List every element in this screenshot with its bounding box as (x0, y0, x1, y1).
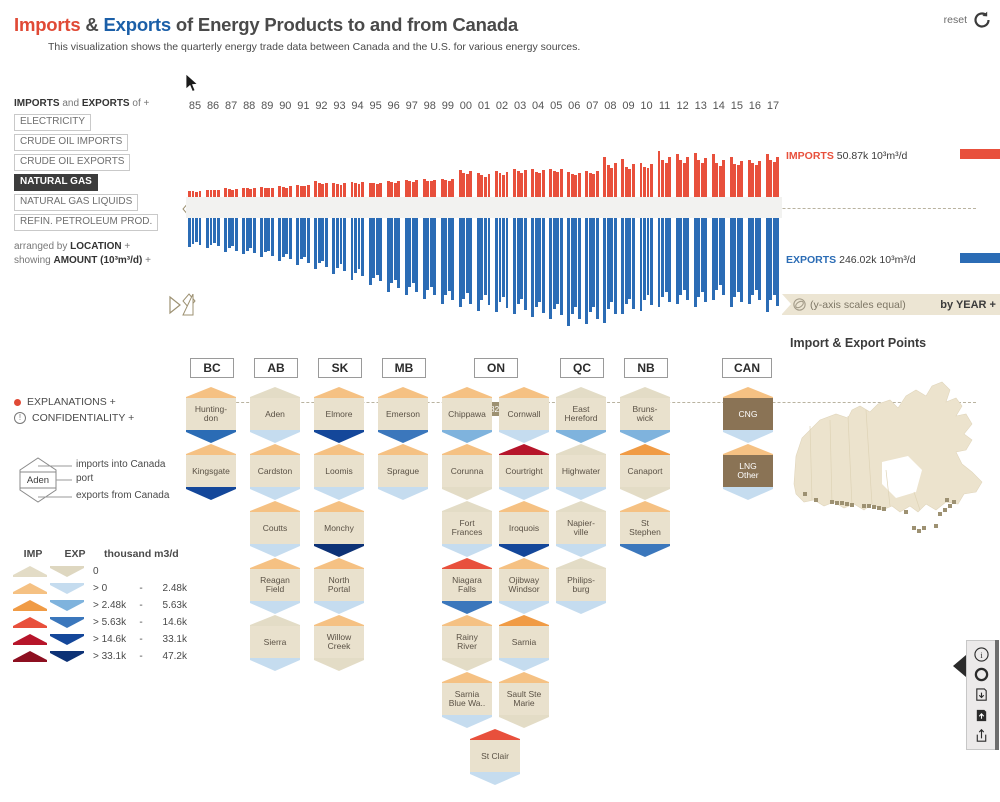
province-header-sk[interactable]: SK (318, 358, 362, 378)
chart-year-label[interactable]: 00 (457, 96, 475, 117)
export-bar[interactable] (199, 218, 202, 245)
export-bar[interactable] (228, 218, 231, 248)
export-bar[interactable] (553, 218, 556, 309)
import-bar[interactable] (748, 160, 751, 197)
export-bar[interactable] (376, 218, 379, 275)
export-bar[interactable] (679, 218, 682, 295)
import-bar[interactable] (321, 184, 324, 197)
confidentiality-toggle[interactable]: ! CONFIDENTIALITY + (14, 412, 199, 424)
import-bar[interactable] (264, 188, 267, 197)
export-bar[interactable] (433, 218, 436, 295)
import-bar[interactable] (621, 159, 624, 197)
import-bar[interactable] (412, 182, 415, 197)
export-bar[interactable] (751, 218, 754, 295)
port-tile[interactable]: NiagaraFalls (442, 569, 492, 601)
chart-year-label[interactable]: 97 (403, 96, 421, 117)
import-bar[interactable] (676, 154, 679, 197)
export-bar[interactable] (412, 218, 415, 283)
export-bar[interactable] (766, 218, 769, 312)
export-bar[interactable] (737, 218, 740, 292)
export-bar[interactable] (444, 218, 447, 295)
import-bar[interactable] (603, 157, 606, 197)
import-bar[interactable] (444, 180, 447, 197)
export-bar[interactable] (556, 218, 559, 304)
export-bar[interactable] (430, 218, 433, 287)
export-bar[interactable] (358, 218, 361, 269)
export-bar[interactable] (733, 218, 736, 297)
import-bar[interactable] (462, 173, 465, 197)
export-bar[interactable] (607, 218, 610, 309)
chart-year-label[interactable]: 06 (565, 96, 583, 117)
export-bar[interactable] (477, 218, 480, 311)
import-bar[interactable] (524, 170, 527, 197)
import-bar[interactable] (704, 158, 707, 197)
export-bar[interactable] (661, 218, 664, 297)
import-bar[interactable] (426, 181, 429, 197)
chart-year-label[interactable]: 89 (258, 96, 276, 117)
legend-row[interactable]: 0 (12, 563, 187, 580)
import-bar[interactable] (285, 188, 288, 197)
toolbar-collapse-arrow[interactable] (953, 655, 966, 677)
export-bar[interactable] (640, 218, 643, 311)
import-bar[interactable] (484, 177, 487, 197)
import-bar[interactable] (549, 169, 552, 197)
export-bar[interactable] (289, 218, 292, 259)
chart-year-label[interactable]: 03 (511, 96, 529, 117)
port-tile[interactable]: StStephen (620, 512, 670, 544)
import-bar[interactable] (325, 183, 328, 197)
canada-map[interactable] (786, 352, 996, 567)
port-tile[interactable]: Corunna (442, 455, 492, 487)
export-bar[interactable] (776, 218, 779, 306)
import-bar[interactable] (469, 171, 472, 197)
chart-year-label[interactable]: 04 (529, 96, 547, 117)
chart-year-label[interactable]: 09 (619, 96, 637, 117)
chart-year-label[interactable]: 12 (674, 96, 692, 117)
import-bar[interactable] (556, 172, 559, 197)
port-tile[interactable]: Sarnia (499, 626, 549, 658)
export-bar[interactable] (538, 218, 541, 302)
export-bar[interactable] (441, 218, 444, 304)
export-bar[interactable] (740, 218, 743, 302)
export-bar[interactable] (499, 218, 502, 302)
export-bar[interactable] (394, 218, 397, 280)
import-bar[interactable] (354, 183, 357, 197)
export-bar[interactable] (278, 218, 281, 261)
import-bar[interactable] (459, 170, 462, 197)
export-bar[interactable] (235, 218, 238, 251)
province-header-nb[interactable]: NB (624, 358, 668, 378)
port-tile[interactable]: Kingsgate (186, 455, 236, 487)
import-bar[interactable] (343, 183, 346, 197)
import-bar[interactable] (361, 182, 364, 197)
export-bar[interactable] (665, 218, 668, 292)
import-bar[interactable] (614, 163, 617, 198)
import-bar[interactable] (394, 183, 397, 197)
import-bar[interactable] (694, 153, 697, 197)
port-tile[interactable]: Napier-ville (556, 512, 606, 544)
port-tile[interactable]: WillowCreek (314, 626, 364, 658)
export-bar[interactable] (488, 218, 491, 305)
export-bar[interactable] (480, 218, 483, 300)
export-bar[interactable] (300, 218, 303, 259)
import-bar[interactable] (513, 169, 516, 197)
export-bar[interactable] (451, 218, 454, 300)
chart-year-label[interactable]: 92 (312, 96, 330, 117)
import-bar[interactable] (477, 173, 480, 197)
import-bar[interactable] (296, 185, 299, 197)
import-bar[interactable] (379, 183, 382, 197)
export-bar[interactable] (758, 218, 761, 300)
import-bar[interactable] (719, 166, 722, 197)
export-bar[interactable] (340, 218, 343, 264)
export-bar[interactable] (325, 218, 328, 267)
import-bar[interactable] (267, 188, 270, 197)
export-bar[interactable] (351, 218, 354, 280)
import-bar[interactable] (560, 169, 563, 197)
export-bar[interactable] (361, 218, 364, 276)
import-bar[interactable] (499, 173, 502, 197)
chart-year-label[interactable]: 15 (728, 96, 746, 117)
export-bar[interactable] (271, 218, 274, 256)
export-bar[interactable] (249, 218, 252, 248)
import-bar[interactable] (441, 179, 444, 197)
export-bar[interactable] (571, 218, 574, 314)
share-icon[interactable] (974, 728, 989, 743)
export-bar[interactable] (307, 218, 310, 263)
chart-year-label[interactable]: 94 (349, 96, 367, 117)
import-bar[interactable] (210, 190, 213, 197)
export-bar[interactable] (517, 218, 520, 304)
export-bar[interactable] (712, 218, 715, 300)
export-bar[interactable] (755, 218, 758, 290)
export-bar[interactable] (676, 218, 679, 304)
import-bar[interactable] (542, 170, 545, 197)
chart-year-label[interactable]: 96 (385, 96, 403, 117)
import-bar[interactable] (358, 184, 361, 197)
chart-year-label[interactable]: 01 (475, 96, 493, 117)
export-bar[interactable] (213, 218, 216, 243)
port-tile[interactable]: Iroquois (499, 512, 549, 544)
export-bar[interactable] (719, 218, 722, 285)
export-bar[interactable] (343, 218, 346, 271)
legend-row[interactable]: > 5.63k-14.6k (12, 614, 187, 631)
port-tile[interactable]: Hunting-don (186, 398, 236, 430)
chart-year-label[interactable]: 91 (294, 96, 312, 117)
export-bar[interactable] (192, 218, 195, 244)
import-bar[interactable] (722, 160, 725, 197)
export-bar[interactable] (610, 218, 613, 302)
info-icon[interactable]: i (974, 647, 989, 662)
province-header-ab[interactable]: AB (254, 358, 298, 378)
export-bar[interactable] (423, 218, 426, 299)
export-bar[interactable] (408, 218, 411, 287)
port-tile[interactable]: EastHereford (556, 398, 606, 430)
export-bar[interactable] (459, 218, 462, 307)
import-bar[interactable] (730, 157, 733, 197)
import-bar[interactable] (430, 181, 433, 197)
export-bar[interactable] (303, 218, 306, 257)
chart-year-label[interactable]: 17 (764, 96, 782, 117)
export-bar[interactable] (296, 218, 299, 265)
chart-year-label[interactable]: 90 (276, 96, 294, 117)
import-bar[interactable] (332, 183, 335, 197)
import-bar[interactable] (271, 188, 274, 197)
export-bar[interactable] (730, 218, 733, 307)
export-bar[interactable] (369, 218, 372, 285)
port-tile[interactable]: Courtright (499, 455, 549, 487)
export-bar[interactable] (285, 218, 288, 254)
export-bar[interactable] (462, 218, 465, 299)
record-circle-icon[interactable] (974, 667, 989, 682)
import-bar[interactable] (755, 165, 758, 197)
export-bar[interactable] (246, 218, 249, 251)
import-bar[interactable] (607, 165, 610, 197)
export-bar[interactable] (513, 218, 516, 314)
port-tile[interactable]: FortFrances (442, 512, 492, 544)
province-header-mb[interactable]: MB (382, 358, 426, 378)
import-bar[interactable] (249, 189, 252, 197)
import-bar[interactable] (628, 169, 631, 197)
export-bar[interactable] (415, 218, 418, 292)
export-bar[interactable] (332, 218, 335, 274)
export-bar[interactable] (354, 218, 357, 273)
export-bar[interactable] (253, 218, 256, 253)
import-bar[interactable] (307, 185, 310, 197)
import-bar[interactable] (260, 187, 263, 197)
export-bar[interactable] (578, 218, 581, 319)
import-bar[interactable] (610, 168, 613, 197)
export-bar[interactable] (469, 218, 472, 304)
export-bar[interactable] (596, 218, 599, 319)
import-bar[interactable] (733, 164, 736, 197)
export-bar[interactable] (715, 218, 718, 290)
import-bar[interactable] (589, 173, 592, 197)
export-bar[interactable] (647, 218, 650, 295)
export-bar[interactable] (426, 218, 429, 290)
import-bar[interactable] (520, 173, 523, 197)
export-bar[interactable] (704, 218, 707, 302)
export-bar[interactable] (701, 218, 704, 292)
chart-year-label[interactable]: 11 (656, 96, 674, 117)
import-bar[interactable] (397, 181, 400, 197)
port-tile[interactable]: ReaganField (250, 569, 300, 601)
chart-year-label[interactable]: 16 (746, 96, 764, 117)
import-bar[interactable] (585, 171, 588, 197)
export-bar[interactable] (668, 218, 671, 302)
export-bar[interactable] (379, 218, 382, 281)
import-bar[interactable] (278, 186, 281, 197)
export-bar[interactable] (650, 218, 653, 305)
import-bar[interactable] (448, 181, 451, 197)
import-bar[interactable] (647, 168, 650, 197)
import-bar[interactable] (697, 160, 700, 197)
export-bar[interactable] (694, 218, 697, 307)
import-bar[interactable] (715, 163, 718, 198)
import-bar[interactable] (405, 180, 408, 197)
port-tile[interactable]: Sierra (250, 626, 300, 658)
import-bar[interactable] (235, 189, 238, 197)
export-bar[interactable] (217, 218, 220, 246)
export-bar[interactable] (502, 218, 505, 297)
legend-row[interactable]: > 0-2.48k (12, 580, 187, 597)
port-tile[interactable]: Highwater (556, 455, 606, 487)
export-bar[interactable] (260, 218, 263, 257)
export-bar[interactable] (603, 218, 606, 323)
export-bar[interactable] (628, 218, 631, 299)
import-bar[interactable] (658, 151, 661, 197)
export-bar[interactable] (314, 218, 317, 269)
port-tile[interactable]: Elmore (314, 398, 364, 430)
export-bar[interactable] (549, 218, 552, 319)
import-bar[interactable] (300, 186, 303, 197)
export-bar[interactable] (390, 218, 393, 283)
import-bar[interactable] (351, 182, 354, 197)
import-bar[interactable] (433, 180, 436, 197)
import-bar[interactable] (488, 174, 491, 197)
import-bar[interactable] (517, 171, 520, 197)
import-bar[interactable] (578, 173, 581, 197)
export-bar[interactable] (531, 218, 534, 317)
export-bar[interactable] (210, 218, 213, 245)
export-bar[interactable] (625, 218, 628, 304)
import-bar[interactable] (769, 160, 772, 197)
import-bar[interactable] (553, 171, 556, 197)
chart-year-label[interactable]: 87 (222, 96, 240, 117)
port-tile[interactable]: Coutts (250, 512, 300, 544)
export-bar[interactable] (535, 218, 538, 307)
province-header-on[interactable]: ON (474, 358, 518, 378)
export-bar[interactable] (188, 218, 191, 247)
import-bar[interactable] (538, 173, 541, 197)
chart-year-label[interactable]: 10 (638, 96, 656, 117)
import-bar[interactable] (415, 180, 418, 197)
import-bar[interactable] (387, 181, 390, 197)
import-bar[interactable] (303, 186, 306, 197)
by-year-toggle[interactable]: by YEAR + (940, 299, 1000, 311)
export-bar[interactable] (336, 218, 339, 268)
port-tile[interactable]: Emerson (378, 398, 428, 430)
import-bar[interactable] (531, 169, 534, 197)
chart-year-label[interactable]: 99 (439, 96, 457, 117)
export-bar[interactable] (405, 218, 408, 295)
upload-page-icon[interactable] (974, 708, 989, 723)
export-bar[interactable] (567, 218, 570, 326)
toolbar-scrollbar[interactable] (995, 640, 999, 750)
import-bar[interactable] (217, 190, 220, 197)
chart-year-label[interactable]: 98 (421, 96, 439, 117)
chart-year-label[interactable]: 88 (240, 96, 258, 117)
import-bar[interactable] (686, 157, 689, 197)
province-header-qc[interactable]: QC (560, 358, 604, 378)
import-bar[interactable] (506, 172, 509, 197)
chart-year-label[interactable]: 14 (710, 96, 728, 117)
import-bar[interactable] (466, 174, 469, 197)
port-tile[interactable]: Chippawa (442, 398, 492, 430)
export-bar[interactable] (592, 218, 595, 307)
import-bar[interactable] (766, 154, 769, 197)
import-bar[interactable] (640, 163, 643, 198)
port-tile[interactable]: Sprague (378, 455, 428, 487)
export-bar[interactable] (542, 218, 545, 313)
export-bar[interactable] (520, 218, 523, 299)
export-bar[interactable] (506, 218, 509, 308)
port-tile[interactable]: St Clair (470, 740, 520, 772)
export-bar[interactable] (773, 218, 776, 295)
port-tile[interactable]: Sault SteMarie (499, 683, 549, 715)
chart-year-label[interactable]: 08 (601, 96, 619, 117)
import-bar[interactable] (282, 187, 285, 197)
import-bar[interactable] (390, 182, 393, 197)
import-bar[interactable] (253, 188, 256, 197)
chart-year-label[interactable]: 07 (583, 96, 601, 117)
export-bar[interactable] (748, 218, 751, 304)
export-bar[interactable] (372, 218, 375, 278)
import-bar[interactable] (737, 165, 740, 197)
port-tile[interactable]: RainyRiver (442, 626, 492, 658)
import-bar[interactable] (632, 164, 635, 197)
import-bar[interactable] (495, 171, 498, 197)
export-bar[interactable] (318, 218, 321, 263)
export-bar[interactable] (195, 218, 198, 242)
legend-row[interactable]: > 14.6k-33.1k (12, 631, 187, 648)
import-bar[interactable] (773, 162, 776, 197)
port-tile[interactable]: Loomis (314, 455, 364, 487)
export-bar[interactable] (589, 218, 592, 312)
port-tile[interactable]: NorthPortal (314, 569, 364, 601)
import-bar[interactable] (408, 181, 411, 197)
export-bar[interactable] (264, 218, 267, 252)
export-bar[interactable] (267, 218, 270, 251)
export-bar[interactable] (448, 218, 451, 291)
import-bar[interactable] (751, 163, 754, 197)
import-bar[interactable] (740, 161, 743, 197)
import-bar[interactable] (758, 161, 761, 197)
import-bar[interactable] (592, 174, 595, 197)
export-bar[interactable] (466, 218, 469, 293)
port-tile[interactable]: Monchy (314, 512, 364, 544)
import-bar[interactable] (712, 154, 715, 197)
import-bar[interactable] (224, 188, 227, 197)
import-bar[interactable] (776, 157, 779, 197)
export-bar[interactable] (560, 218, 563, 315)
export-bar[interactable] (524, 218, 527, 310)
export-bar[interactable] (686, 218, 689, 300)
chart-year-label[interactable]: 85 (186, 96, 204, 117)
import-bar[interactable] (213, 190, 216, 197)
export-bar[interactable] (387, 218, 390, 292)
import-bar[interactable] (289, 186, 292, 197)
import-bar[interactable] (318, 183, 321, 197)
export-bar[interactable] (231, 218, 234, 246)
legend-row[interactable]: > 2.48k-5.63k (12, 597, 187, 614)
chart-year-label[interactable]: 93 (330, 96, 348, 117)
import-bar[interactable] (228, 189, 231, 197)
export-bar[interactable] (321, 218, 324, 261)
import-bar[interactable] (668, 157, 671, 197)
import-bar[interactable] (643, 167, 646, 197)
export-bar[interactable] (643, 218, 646, 300)
export-bar[interactable] (632, 218, 635, 309)
import-bar[interactable] (571, 174, 574, 197)
import-bar[interactable] (206, 190, 209, 197)
import-bar[interactable] (535, 172, 538, 197)
port-tile[interactable]: Aden (250, 398, 300, 430)
import-bar[interactable] (480, 175, 483, 197)
export-bar[interactable] (224, 218, 227, 252)
reset-button[interactable]: reset (944, 10, 992, 30)
port-tile[interactable]: Canaport (620, 455, 670, 487)
